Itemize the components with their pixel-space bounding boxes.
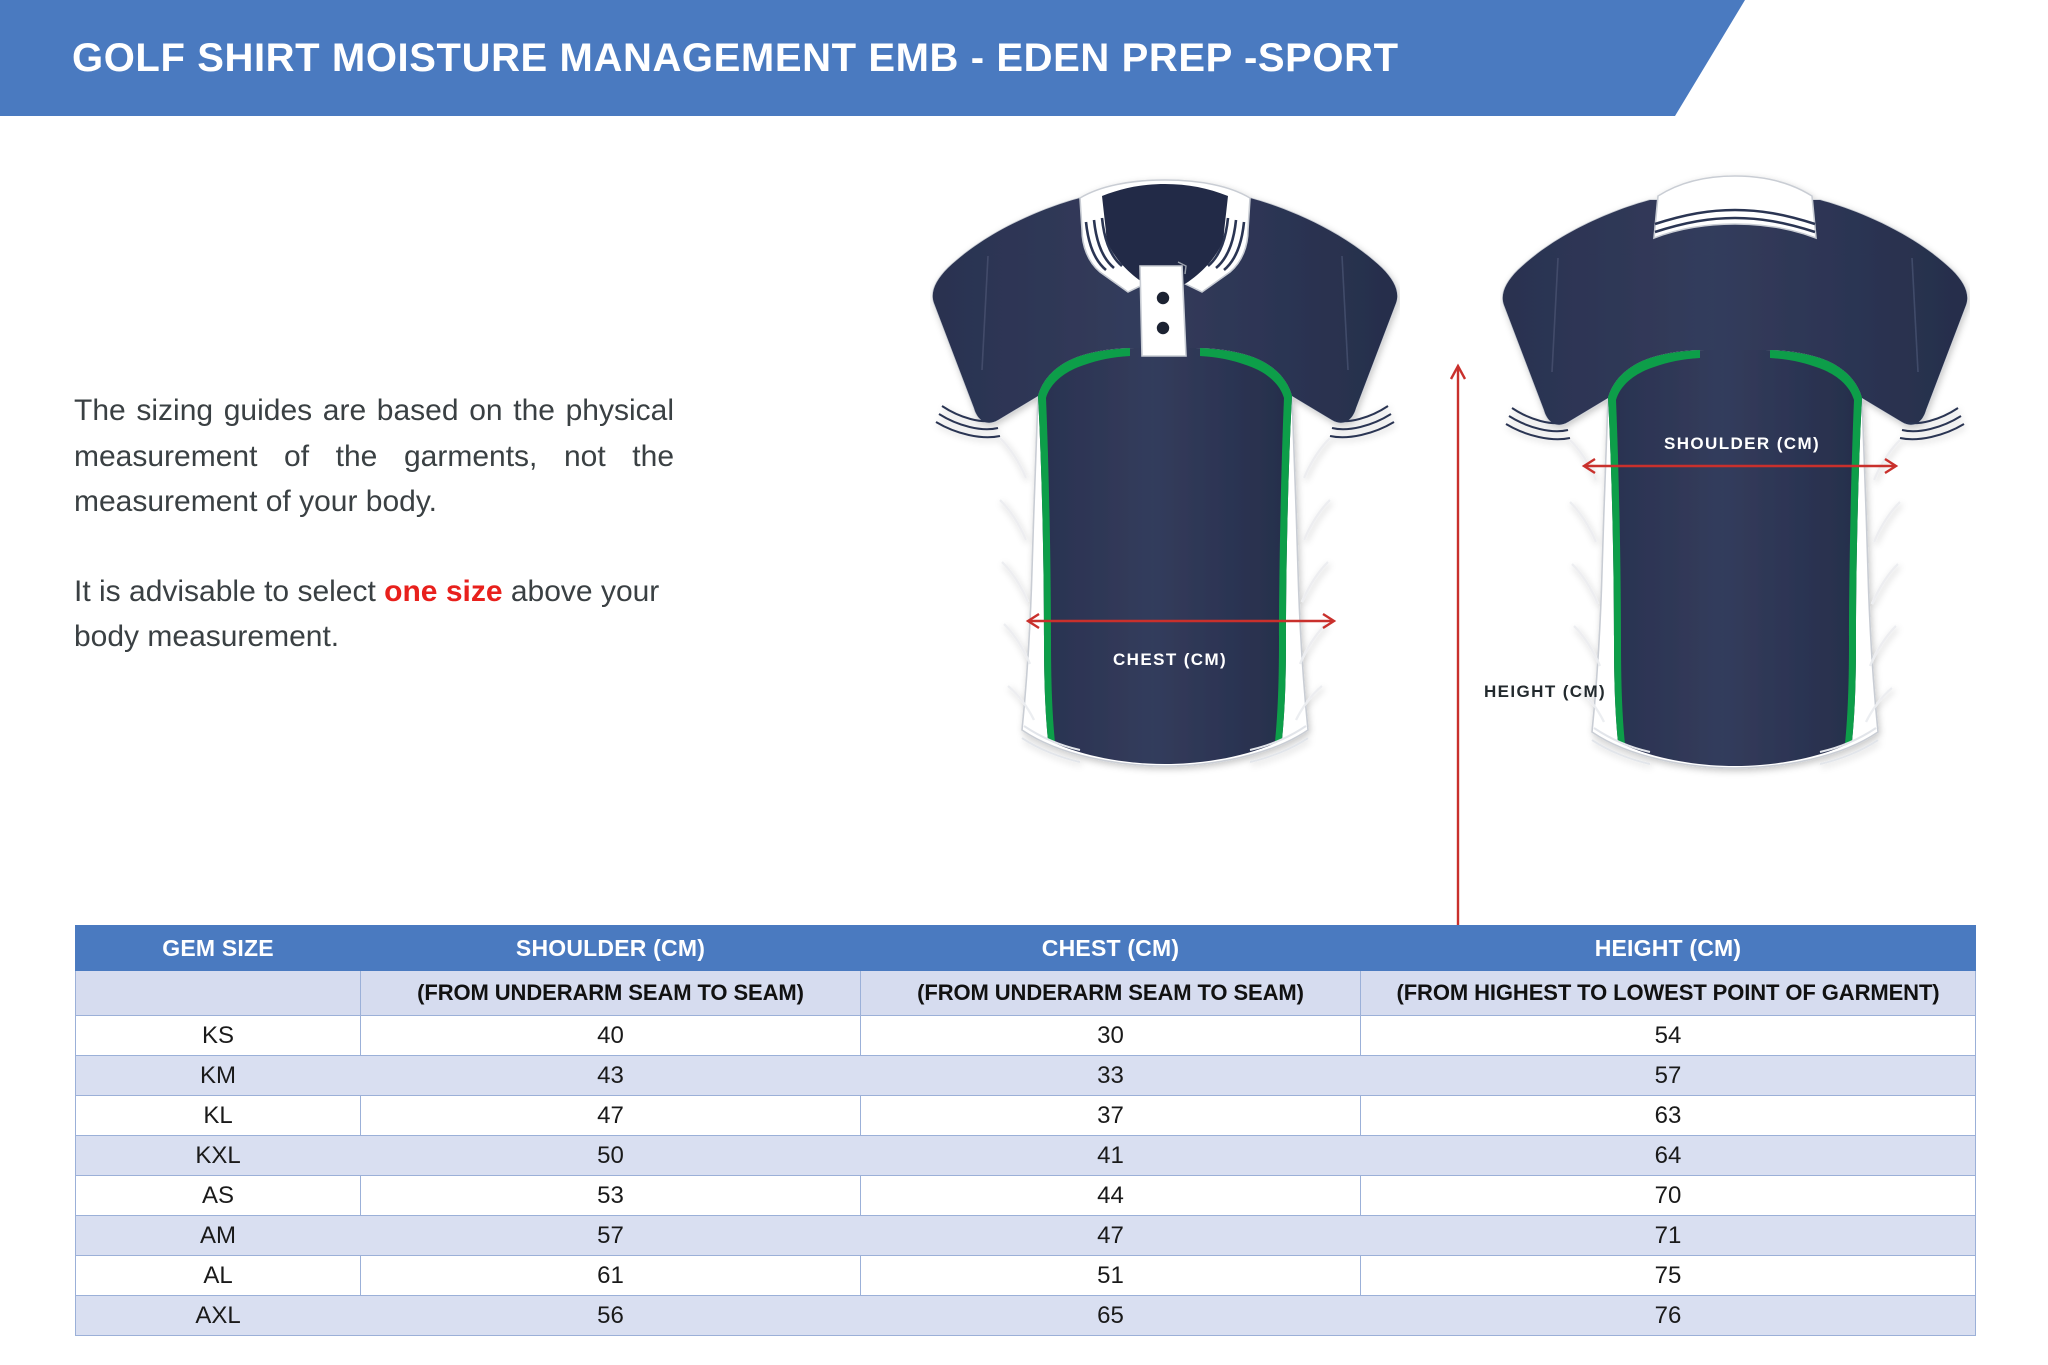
size-table-wrapper: GEM SIZE SHOULDER (CM) CHEST (CM) HEIGHT… (75, 925, 1975, 1336)
cell-value: 54 (1361, 1016, 1976, 1056)
cell-size: AS (76, 1176, 361, 1216)
cell-value: 61 (361, 1256, 861, 1296)
shoulder-measure-arrow (1576, 456, 1904, 476)
shirt-front-illustration (930, 170, 1400, 800)
cell-value: 63 (1361, 1096, 1976, 1136)
cell-value: 30 (861, 1016, 1361, 1056)
cell-size: KM (76, 1056, 361, 1096)
cell-value: 40 (361, 1016, 861, 1056)
cell-value: 37 (861, 1096, 1361, 1136)
size-table-head: GEM SIZE SHOULDER (CM) CHEST (CM) HEIGHT… (76, 926, 1976, 1016)
sub-header-height: (FROM HIGHEST TO LOWEST POINT OF GARMENT… (1361, 971, 1976, 1016)
cell-value: 47 (861, 1216, 1361, 1256)
cell-value: 75 (1361, 1256, 1976, 1296)
table-header-row: GEM SIZE SHOULDER (CM) CHEST (CM) HEIGHT… (76, 926, 1976, 971)
cell-value: 50 (361, 1136, 861, 1176)
cell-value: 57 (361, 1216, 861, 1256)
cell-value: 76 (1361, 1296, 1976, 1336)
cell-value: 43 (361, 1056, 861, 1096)
chest-dimension-label: CHEST (CM) (1113, 650, 1227, 670)
table-row: KL473763 (76, 1096, 1976, 1136)
cell-size: AXL (76, 1296, 361, 1336)
cell-size: AL (76, 1256, 361, 1296)
table-row: AL615175 (76, 1256, 1976, 1296)
cell-value: 33 (861, 1056, 1361, 1096)
shoulder-dimension-label: SHOULDER (CM) (1664, 434, 1820, 454)
header-banner: GOLF SHIRT MOISTURE MANAGEMENT EMB - EDE… (0, 0, 1745, 116)
cell-value: 57 (1361, 1056, 1976, 1096)
garment-illustrations: CHEST (CM) SHOULDER (CM) HEIGHT (CM) (0, 130, 2048, 870)
table-row: AM574771 (76, 1216, 1976, 1256)
table-row: AXL566576 (76, 1296, 1976, 1336)
col-header-chest: CHEST (CM) (861, 926, 1361, 971)
cell-size: KXL (76, 1136, 361, 1176)
sub-header-chest: (FROM UNDERARM SEAM TO SEAM) (861, 971, 1361, 1016)
table-row: KS403054 (76, 1016, 1976, 1056)
cell-value: 56 (361, 1296, 861, 1336)
cell-value: 64 (1361, 1136, 1976, 1176)
cell-size: KS (76, 1016, 361, 1056)
table-subheader-row: (FROM UNDERARM SEAM TO SEAM) (FROM UNDER… (76, 971, 1976, 1016)
size-chart-page: GOLF SHIRT MOISTURE MANAGEMENT EMB - EDE… (0, 0, 2048, 1365)
col-header-gem-size: GEM SIZE (76, 926, 361, 971)
cell-value: 44 (861, 1176, 1361, 1216)
cell-value: 41 (861, 1136, 1361, 1176)
cell-value: 51 (861, 1256, 1361, 1296)
cell-value: 71 (1361, 1216, 1976, 1256)
col-header-shoulder: SHOULDER (CM) (361, 926, 861, 971)
cell-value: 65 (861, 1296, 1361, 1336)
table-row: AS534470 (76, 1176, 1976, 1216)
cell-size: AM (76, 1216, 361, 1256)
chest-measure-arrow (1020, 611, 1342, 631)
cell-size: KL (76, 1096, 361, 1136)
height-measure-arrow (1448, 360, 1468, 960)
size-table: GEM SIZE SHOULDER (CM) CHEST (CM) HEIGHT… (75, 925, 1976, 1336)
shirt-back-illustration (1500, 170, 1970, 800)
table-row: KXL504164 (76, 1136, 1976, 1176)
col-header-height: HEIGHT (CM) (1361, 926, 1976, 971)
height-dimension-label: HEIGHT (CM) (1484, 682, 1606, 702)
cell-value: 53 (361, 1176, 861, 1216)
cell-value: 70 (1361, 1176, 1976, 1216)
page-title: GOLF SHIRT MOISTURE MANAGEMENT EMB - EDE… (72, 36, 1399, 81)
table-row: KM433357 (76, 1056, 1976, 1096)
sub-header-shoulder: (FROM UNDERARM SEAM TO SEAM) (361, 971, 861, 1016)
cell-value: 47 (361, 1096, 861, 1136)
sub-header-blank (76, 971, 361, 1016)
size-table-body: KS403054KM433357KL473763KXL504164AS53447… (76, 1016, 1976, 1336)
